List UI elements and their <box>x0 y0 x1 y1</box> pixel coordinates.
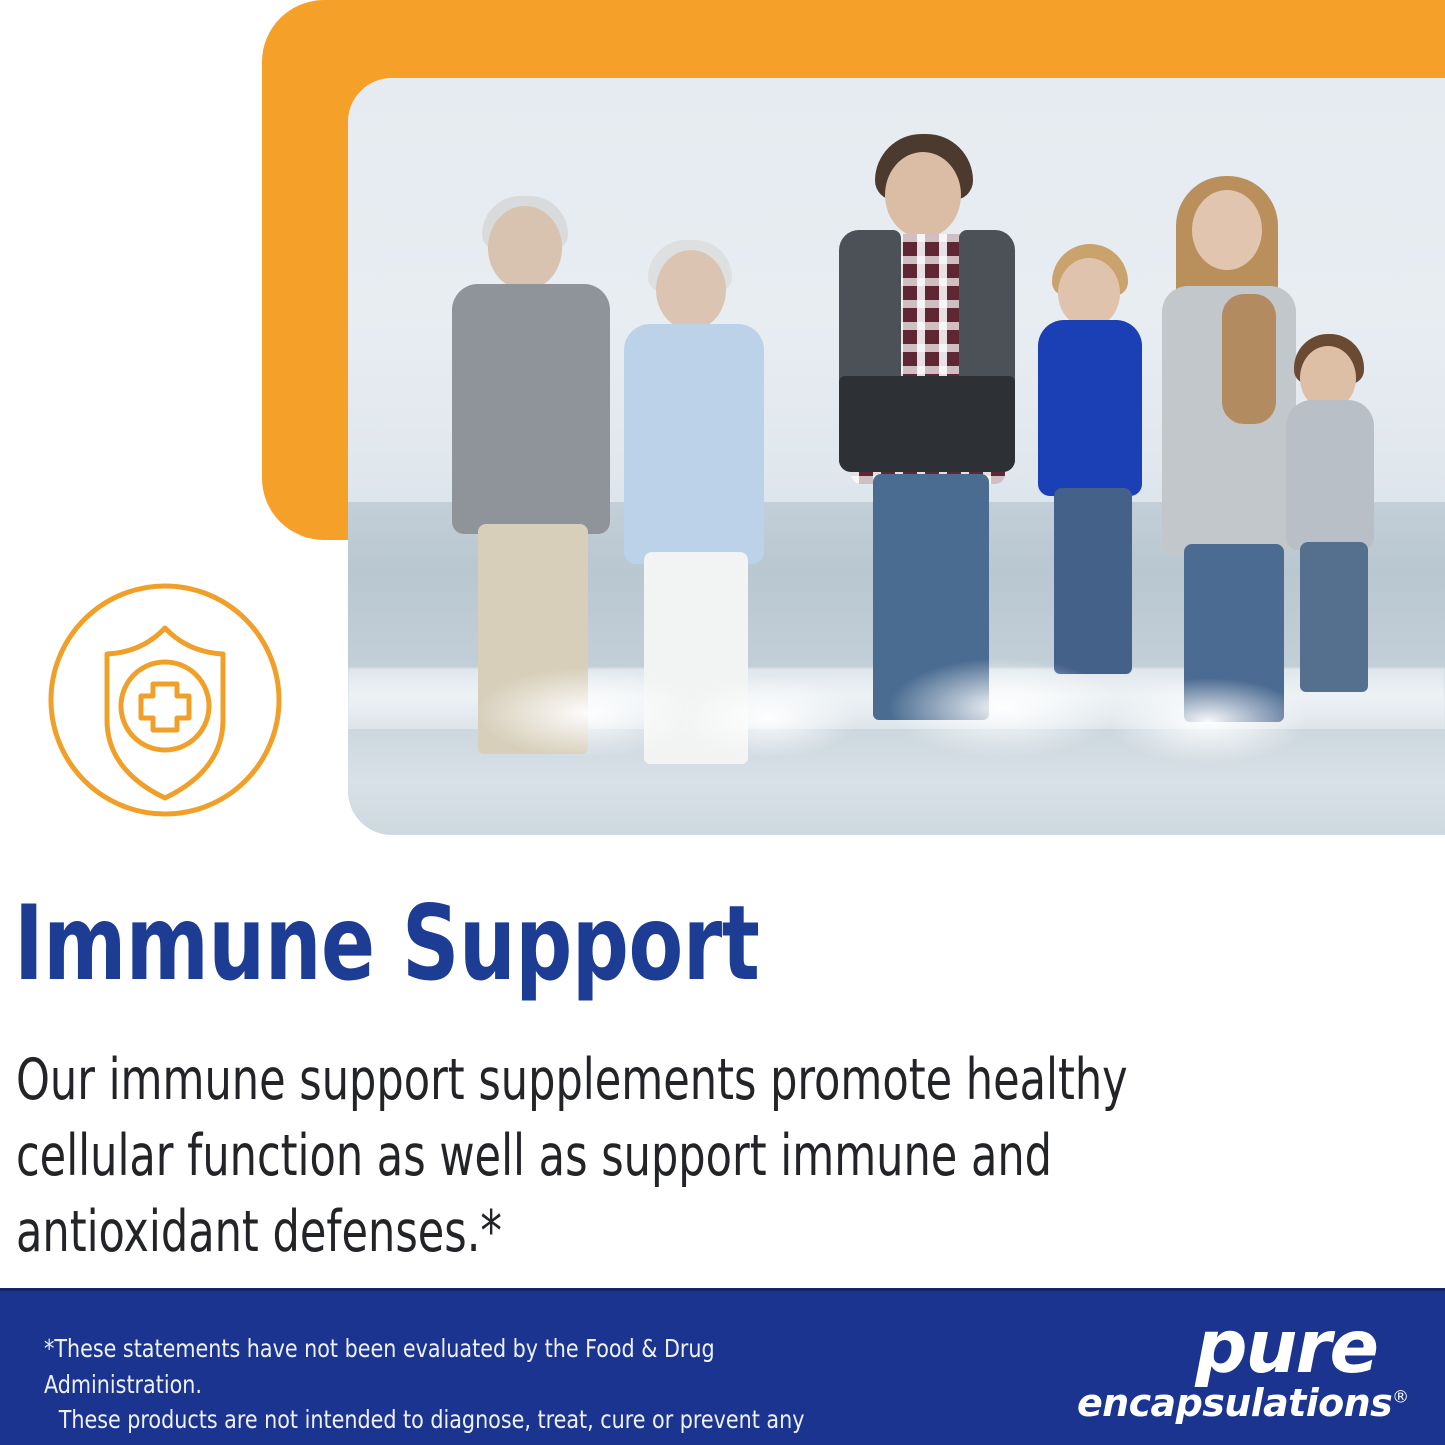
head <box>656 250 726 330</box>
water-splash <box>1108 678 1308 764</box>
lifestyle-photo <box>348 78 1445 835</box>
disclaimer-line-1: *These statements have not been evaluate… <box>44 1334 715 1399</box>
water-splash <box>888 658 1118 758</box>
head <box>1192 190 1262 270</box>
page-title: Immune Support <box>14 893 759 996</box>
figure-adult-man <box>833 108 1033 748</box>
registered-trademark-icon: ® <box>1392 1388 1408 1408</box>
figure-boy <box>1028 108 1168 748</box>
footer-bar: *These statements have not been evaluate… <box>0 1288 1445 1445</box>
torso <box>452 284 610 534</box>
torso <box>1038 320 1142 496</box>
head <box>488 206 562 290</box>
hero-section <box>0 0 1445 880</box>
torso <box>1286 400 1374 550</box>
product-marketing-banner: Immune Support Our immune support supple… <box>0 0 1445 1445</box>
description-text: Our immune support supplements promote h… <box>16 1043 1142 1270</box>
fda-disclaimer: *These statements have not been evaluate… <box>44 1331 854 1445</box>
logo-wordmark-secondary: encapsulations® <box>1077 1384 1377 1422</box>
figure-child <box>1278 108 1408 748</box>
logo-secondary-text: encapsulations <box>1077 1381 1392 1425</box>
water-splash <box>478 668 698 758</box>
legs <box>1300 542 1368 692</box>
description-line: Our immune support supplements promote h… <box>16 1043 1142 1119</box>
logo-wordmark-primary: pure <box>1077 1313 1377 1382</box>
description-line: antioxidant defenses.* <box>16 1195 1142 1271</box>
legs <box>1054 488 1132 674</box>
shield-health-icon <box>45 580 285 820</box>
pure-encapsulations-logo: pure encapsulations® <box>1077 1313 1377 1429</box>
scarf <box>1222 294 1276 424</box>
water-splash <box>678 678 858 758</box>
torso <box>624 324 764 564</box>
description-line: cellular function as well as support imm… <box>16 1119 1142 1195</box>
vest-lower <box>839 376 1015 472</box>
disclaimer-line-2: These products are not intended to diagn… <box>44 1402 854 1445</box>
head <box>885 152 961 238</box>
head <box>1058 258 1120 328</box>
